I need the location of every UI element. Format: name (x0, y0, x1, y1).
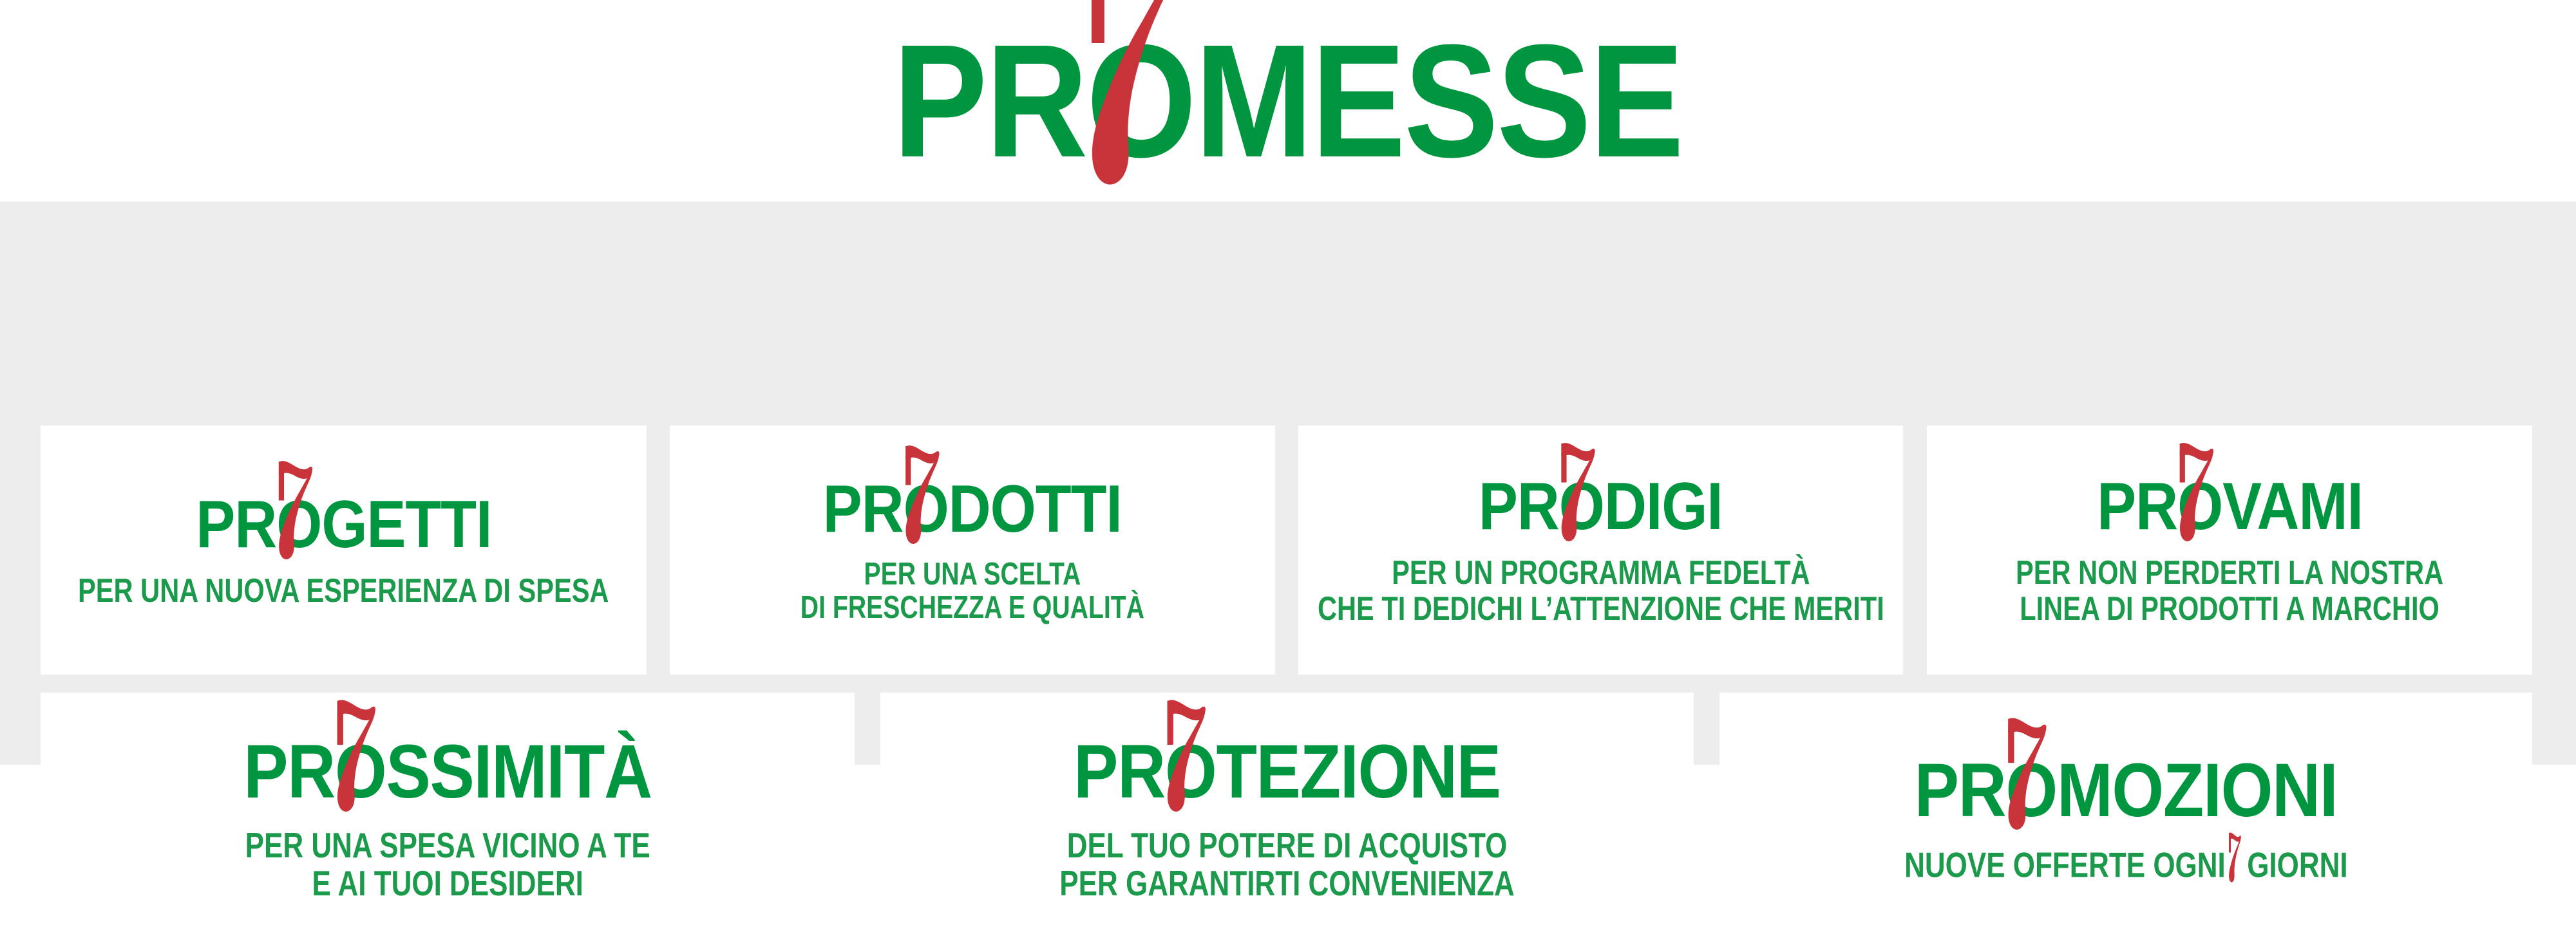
card-title-provami: PRO VAMI (2097, 473, 2363, 540)
subtitle-line: DI FRESCHEZZA E QUALITÀ (800, 592, 1144, 625)
card-subtitle-promozioni: NUOVE OFFERTE OGNI GIORNI (1904, 845, 2348, 884)
title-suffix: MOZIONI (2057, 752, 2337, 828)
card-prodotti[interactable]: PRO DOTTI PER UNA SCELTA DI FRESCHEZZA E… (670, 425, 1275, 675)
title-suffix: DOTTI (949, 476, 1122, 543)
subtitle-line: NUOVE OFFERTE OGNI GIORNI (1904, 845, 2348, 884)
card-promozioni[interactable]: PRO MOZIONI NUOVE OFFERTE OGNI GIORNI (1719, 693, 2532, 943)
logo-suffix: MESSE (1195, 21, 1683, 182)
subtitle-text-after: GIORNI (2247, 845, 2347, 884)
card-title-protezione: PRO TEZIONE (1074, 734, 1501, 810)
seven-over-o-lockup: O (1086, 21, 1195, 182)
card-subtitle-protezione: DEL TUO POTERE DI ACQUISTO PER GARANTIRT… (1059, 826, 1514, 902)
card-title-promozioni: PRO MOZIONI (1915, 752, 2338, 828)
card-progetti[interactable]: PRO GETTI PER UNA NUOVA ESPERIENZA DI SP… (41, 425, 647, 675)
card-subtitle-prossimita: PER UNA SPESA VICINO A TE E AI TUOI DESI… (245, 826, 650, 902)
subtitle-line: PER NON PERDERTI LA NOSTRA (2016, 556, 2443, 591)
subtitle-line: E AI TUOI DESIDERI (245, 864, 650, 902)
subtitle-line: PER UN PROGRAMMA FEDELTÀ (1318, 556, 1884, 591)
card-prodigi[interactable]: PRO DIGI PER UN PROGRAMMA FEDELTÀ CHE TI… (1298, 425, 1903, 675)
card-prossimita[interactable]: PRO SSIMITÀ PER UNA SPESA VICINO A TE E … (41, 693, 855, 943)
cards-board: PRO GETTI PER UNA NUOVA ESPERIENZA DI SP… (0, 201, 2576, 765)
seven-over-o-lockup: O (276, 491, 321, 558)
title-suffix: VAMI (2222, 473, 2363, 540)
seven-over-o-lockup: O (904, 476, 949, 543)
card-title-progetti: PRO GETTI (196, 491, 491, 558)
subtitle-line: CHE TI DEDICHI L’ATTENZIONE CHE MERITI (1318, 592, 1884, 627)
title-letter-o: O (335, 734, 386, 810)
card-subtitle-provami: PER NON PERDERTI LA NOSTRA LINEA DI PROD… (2016, 556, 2443, 626)
seven-over-o-lockup: O (2005, 752, 2057, 828)
title-prefix: PR (243, 734, 335, 810)
title-prefix: PR (2097, 473, 2177, 540)
title-suffix: SSIMITÀ (386, 734, 651, 810)
seven-flag-icon (2227, 845, 2244, 881)
subtitle-text-before: NUOVE OFFERTE OGNI (1904, 845, 2226, 884)
card-subtitle-progetti: PER UNA NUOVA ESPERIENZA DI SPESA (78, 574, 609, 609)
subtitle-line: PER UNA SPESA VICINO A TE (245, 826, 650, 864)
subtitle-line: PER GARANTIRTI CONVENIENZA (1059, 864, 1514, 902)
logo-prefix: PR (893, 21, 1086, 182)
title-letter-o: O (1559, 473, 1604, 540)
subtitle-line: PER UNA SCELTA (800, 558, 1144, 592)
seven-over-o-lockup: O (2177, 473, 2222, 540)
header-banner: PRO MESSE (0, 0, 2576, 201)
card-title-prossimita: PRO SSIMITÀ (243, 734, 652, 810)
title-prefix: PR (823, 476, 904, 543)
promesse-logo: PRO MESSE (893, 21, 1683, 182)
title-suffix: TEZIONE (1216, 734, 1500, 810)
seven-over-o-lockup: O (1559, 473, 1604, 540)
subtitle-line: PER UNA NUOVA ESPERIENZA DI SPESA (78, 574, 609, 609)
card-subtitle-prodigi: PER UN PROGRAMMA FEDELTÀ CHE TI DEDICHI … (1318, 556, 1884, 626)
subtitle-line: DEL TUO POTERE DI ACQUISTO (1059, 826, 1514, 864)
card-subtitle-prodotti: PER UNA SCELTA DI FRESCHEZZA E QUALITÀ (800, 558, 1144, 625)
title-letter-o: O (904, 476, 949, 543)
title-letter-o: O (1165, 734, 1217, 810)
seven-over-o-lockup: O (1165, 734, 1217, 810)
logo-letter-o: O (1086, 21, 1195, 182)
title-prefix: PR (1074, 734, 1165, 810)
title-letter-o: O (2177, 473, 2222, 540)
title-prefix: PR (1479, 473, 1559, 540)
card-provami[interactable]: PRO VAMI PER NON PERDERTI LA NOSTRA LINE… (1927, 425, 2532, 675)
card-title-prodotti: PRO DOTTI (823, 476, 1122, 543)
card-title-prodigi: PRO DIGI (1479, 473, 1723, 540)
subtitle-line: LINEA DI PRODOTTI A MARCHIO (2016, 592, 2443, 627)
title-letter-o: O (2005, 752, 2057, 828)
title-letter-o: O (276, 491, 321, 558)
card-protezione[interactable]: PRO TEZIONE DEL TUO POTERE DI ACQUISTO P… (880, 693, 1694, 943)
title-prefix: PR (1915, 752, 2006, 828)
title-prefix: PR (196, 491, 276, 558)
seven-over-o-lockup: O (335, 734, 386, 810)
title-suffix: DIGI (1604, 473, 1723, 540)
title-suffix: GETTI (321, 491, 491, 558)
